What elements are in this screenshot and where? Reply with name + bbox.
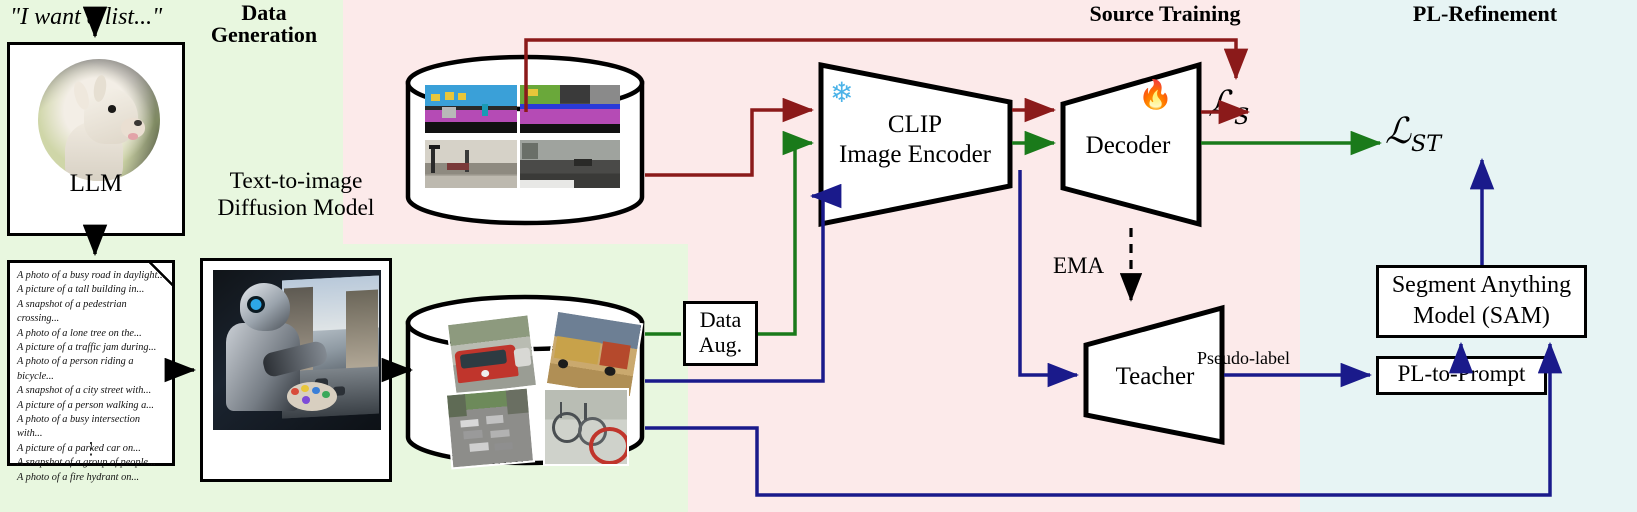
arrow-source-images-to-clip	[645, 110, 812, 175]
diagram-canvas: Data Generation Source Training PL-Refin…	[0, 0, 1637, 512]
arrow-dataaug-to-clip	[758, 143, 812, 334]
arrow-clip-to-teacher	[1020, 170, 1077, 375]
arrow-gt-to-loss-s	[526, 40, 1236, 112]
flow-arrows	[0, 0, 1637, 512]
arrow-images-to-sam	[645, 344, 1550, 495]
